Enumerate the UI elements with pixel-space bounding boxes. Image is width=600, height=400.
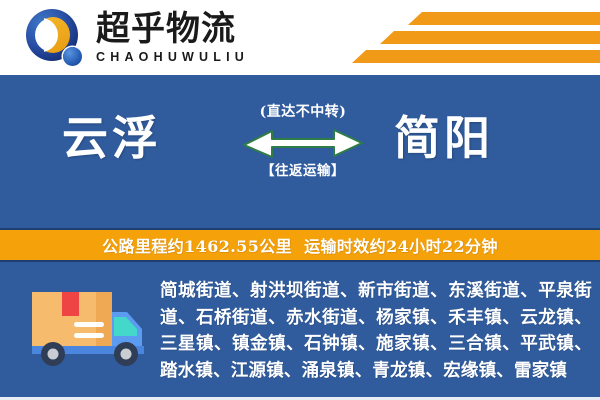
route-origin-city: 云浮: [62, 115, 162, 161]
logo-dot-icon: [63, 47, 82, 66]
logistics-route-poster: 超乎物流 CHAOHUWULIU 云浮 (直达不中转) 【往返运输】 简阳 公路…: [0, 0, 600, 400]
brand-name-cn: 超乎物流: [96, 12, 249, 48]
stripe-2: [380, 31, 600, 44]
duration-text: 运输时效约24小时22分钟: [304, 233, 498, 257]
route-destination-city: 简阳: [394, 115, 494, 161]
stripe-3: [352, 50, 600, 63]
coverage-areas-text: 简城街道、射洪坝街道、新市街道、东溪街道、平泉街道、石桥街道、赤水街道、杨家镇、…: [160, 278, 592, 384]
route-panel: 云浮 (直达不中转) 【往返运输】 简阳: [0, 75, 600, 228]
route-note-top: (直达不中转): [242, 105, 364, 120]
logo-crescent-icon: [44, 17, 70, 53]
double-arrow-icon: [242, 126, 364, 160]
brand-logo: 超乎物流 CHAOHUWULIU: [24, 6, 249, 70]
brand-name-en: CHAOHUWULIU: [96, 50, 249, 64]
delivery-truck-icon: [22, 284, 148, 370]
route-note-bottom: 【往返运输】: [242, 164, 364, 179]
header: 超乎物流 CHAOHUWULIU: [0, 0, 600, 75]
coverage-panel: 简城街道、射洪坝街道、新市街道、东溪街道、平泉街道、石桥街道、赤水街道、杨家镇、…: [0, 262, 600, 400]
circle-crescent-logo-icon: [24, 7, 86, 69]
decorative-stripes: [350, 10, 600, 66]
distance-text: 公路里程约1462.55公里: [102, 233, 292, 257]
info-bar: 公路里程约1462.55公里 运输时效约24小时22分钟: [0, 228, 600, 262]
brand-text: 超乎物流 CHAOHUWULIU: [96, 12, 249, 64]
route-middle: (直达不中转) 【往返运输】: [242, 105, 364, 179]
stripe-1: [408, 12, 600, 25]
